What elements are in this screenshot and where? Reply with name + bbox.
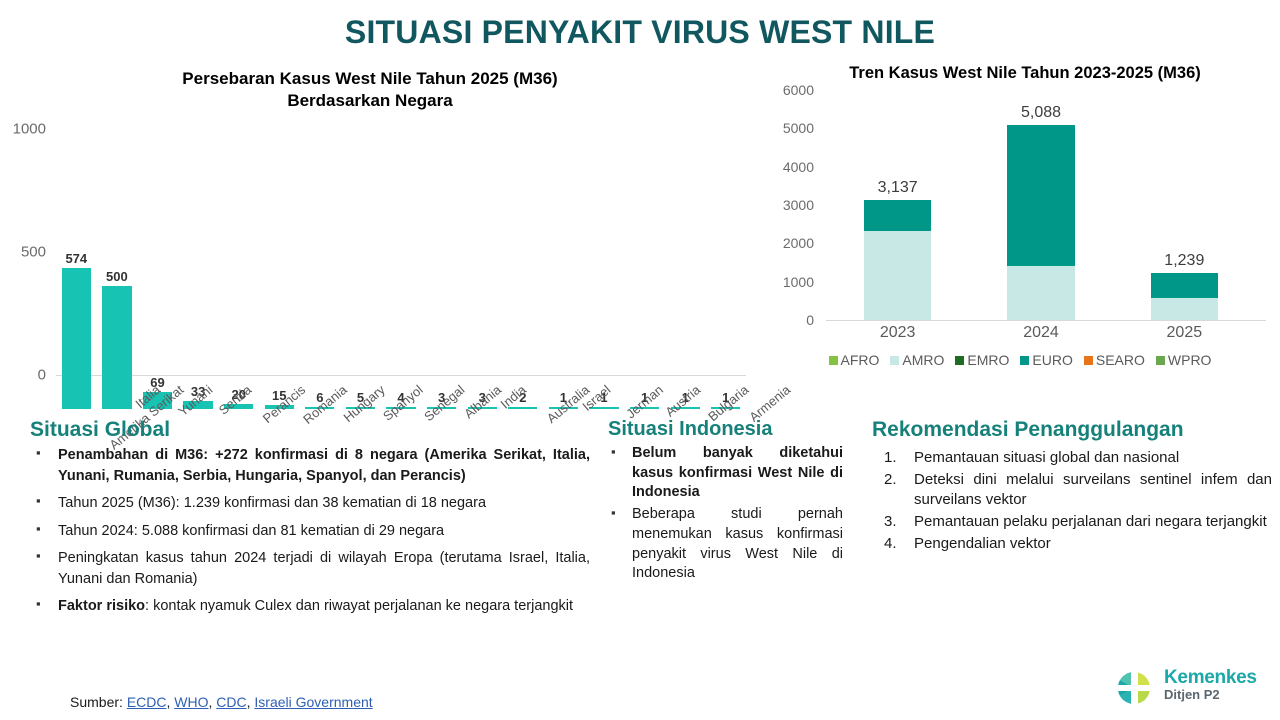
left-chart-bar-slot: 2 xyxy=(503,163,544,409)
right-chart-y-tick: 6000 xyxy=(783,82,814,98)
right-chart-y-tick: 0 xyxy=(806,312,814,328)
right-chart-total-label: 5,088 xyxy=(1021,105,1061,121)
source-links: ECDC, WHO, CDC, Israeli Government xyxy=(127,694,373,710)
right-chart-segment-amro xyxy=(1007,266,1074,320)
legend-label: AFRO xyxy=(841,352,880,368)
left-chart-bar-slot: 500 xyxy=(97,163,138,409)
left-chart-bar-slot: 15 xyxy=(259,163,300,409)
situasi-global-item: Faktor risiko: kontak nyamuk Culex dan r… xyxy=(30,596,590,617)
rekomendasi-heading: Rekomendasi Penanggulangan xyxy=(872,418,1272,442)
right-chart-y-tick: 4000 xyxy=(783,159,814,175)
right-chart-segment-euro xyxy=(864,200,931,231)
situasi-global-item: Penambahan di M36: +272 konfirmasi di 8 … xyxy=(30,445,590,486)
rekomendasi-item: Pemantauan situasi global dan nasional xyxy=(872,448,1272,469)
page-title: SITUASI PENYAKIT VIRUS WEST NILE xyxy=(0,14,1280,51)
situasi-indonesia-list: Belum banyak diketahui kasus konfirmasi … xyxy=(608,444,843,584)
situasi-indonesia-heading: Situasi Indonesia xyxy=(608,418,843,441)
right-chart-x-label: 2024 xyxy=(969,324,1112,342)
chart-tren-kasus: Tren Kasus West Nile Tahun 2023-2025 (M3… xyxy=(760,60,1280,395)
left-chart-bar-slot: 1 xyxy=(584,163,625,409)
legend-label: EURO xyxy=(1032,352,1072,368)
legend-label: WPRO xyxy=(1168,352,1212,368)
right-chart-bar-slot: 1,239 xyxy=(1113,90,1256,320)
right-chart-x-label: 2025 xyxy=(1113,324,1256,342)
left-chart-bar-slot: 1 xyxy=(706,163,747,409)
legend-label: EMRO xyxy=(967,352,1009,368)
legend-item-wpro[interactable]: WPRO xyxy=(1156,352,1212,368)
right-chart-title: Tren Kasus West Nile Tahun 2023-2025 (M3… xyxy=(770,64,1280,83)
situasi-global-item: Tahun 2024: 5.088 konfirmasi dan 81 kema… xyxy=(30,521,590,542)
bullet-lead: Faktor risiko xyxy=(58,598,145,614)
legend-label: SEARO xyxy=(1096,352,1145,368)
right-chart-axis-line xyxy=(826,320,1266,321)
left-chart-y-axis: 05001000 xyxy=(0,100,50,375)
left-chart-bar-slot: 6 xyxy=(300,163,341,409)
section-situasi-global: Situasi Global Penambahan di M36: +272 k… xyxy=(30,418,590,624)
right-chart-segment-euro xyxy=(1151,273,1218,298)
legend-item-afro[interactable]: AFRO xyxy=(829,352,880,368)
left-chart-y-tick: 0 xyxy=(38,367,46,384)
source-link-who[interactable]: WHO xyxy=(174,694,208,710)
legend-item-amro[interactable]: AMRO xyxy=(890,352,944,368)
left-chart-bar-slot: 574 xyxy=(56,163,97,409)
legend-swatch-icon xyxy=(1020,356,1029,365)
right-chart-total-label: 1,239 xyxy=(1164,253,1204,269)
right-chart-bar-slot: 3,137 xyxy=(826,90,969,320)
left-chart-x-labels: Amerika SerikatItaliaYunaniSerbiaPeranci… xyxy=(56,382,746,383)
kemenkes-pinwheel-icon xyxy=(1112,666,1158,712)
legend-swatch-icon xyxy=(1084,356,1093,365)
kemenkes-logo: Kemenkes Ditjen P2 xyxy=(1112,666,1272,714)
right-chart-stack xyxy=(1007,125,1074,320)
right-chart-y-tick: 5000 xyxy=(783,120,814,136)
right-chart-bars: 3,1375,0881,239 xyxy=(826,90,1256,320)
right-chart-total-label: 3,137 xyxy=(878,180,918,196)
left-chart-bar-slot: 20 xyxy=(218,163,259,409)
right-chart-stack xyxy=(1151,273,1218,320)
situasi-global-item: Peningkatan kasus tahun 2024 terjadi di … xyxy=(30,548,590,589)
left-chart-bar-slot: 33 xyxy=(178,163,219,409)
right-chart-x-labels: 202320242025 xyxy=(826,324,1256,342)
legend-swatch-icon xyxy=(829,356,838,365)
left-chart-bars: 5745006933201565433211111 xyxy=(56,163,746,409)
left-chart-bar-slot: 5 xyxy=(340,163,381,409)
left-chart-bar-slot: 4 xyxy=(381,163,422,409)
chart-persebaran-negara: Persebaran Kasus West Nile Tahun 2025 (M… xyxy=(0,64,760,409)
source-link-israeli-government[interactable]: Israeli Government xyxy=(254,694,372,710)
legend-item-searo[interactable]: SEARO xyxy=(1084,352,1145,368)
left-chart-bar-slot: 3 xyxy=(462,163,503,409)
legend-item-emro[interactable]: EMRO xyxy=(955,352,1009,368)
left-chart-bar-value: 574 xyxy=(65,252,87,265)
source-link-cdc[interactable]: CDC xyxy=(216,694,246,710)
right-chart-bar-slot: 5,088 xyxy=(969,90,1112,320)
source-line: Sumber: ECDC, WHO, CDC, Israeli Governme… xyxy=(70,694,373,710)
right-chart-y-tick: 1000 xyxy=(783,274,814,290)
section-situasi-indonesia: Situasi Indonesia Belum banyak diketahui… xyxy=(608,418,843,586)
right-chart-segment-amro xyxy=(864,231,931,320)
rekomendasi-item: Pemantauan pelaku perjalanan dari negara… xyxy=(872,512,1272,533)
kemenkes-brand: Kemenkes xyxy=(1164,668,1257,687)
kemenkes-logo-text: Kemenkes Ditjen P2 xyxy=(1164,668,1257,702)
legend-swatch-icon xyxy=(955,356,964,365)
section-rekomendasi: Rekomendasi Penanggulangan Pemantauan si… xyxy=(872,418,1272,555)
legend-label: AMRO xyxy=(902,352,944,368)
left-chart-y-tick: 1000 xyxy=(13,121,46,138)
situasi-global-item: Tahun 2025 (M36): 1.239 konfirmasi dan 3… xyxy=(30,493,590,514)
right-chart-y-tick: 3000 xyxy=(783,197,814,213)
situasi-global-heading: Situasi Global xyxy=(30,418,590,442)
right-chart-x-label: 2023 xyxy=(826,324,969,342)
right-chart-legend: AFROAMROEMROEUROSEAROWPRO xyxy=(760,352,1280,368)
left-chart-bar-slot: 69 xyxy=(137,163,178,409)
situasi-indonesia-item: Belum banyak diketahui kasus konfirmasi … xyxy=(608,444,843,503)
source-link-ecdc[interactable]: ECDC xyxy=(127,694,167,710)
left-chart-bar xyxy=(508,407,537,409)
rekomendasi-item: Deteksi dini melalui surveilans sentinel… xyxy=(872,470,1272,511)
left-chart-bar-slot: 1 xyxy=(624,163,665,409)
legend-swatch-icon xyxy=(1156,356,1165,365)
situasi-indonesia-item: Beberapa studi pernah menemukan kasus ko… xyxy=(608,505,843,584)
legend-swatch-icon xyxy=(890,356,899,365)
right-chart-segment-euro xyxy=(1007,125,1074,266)
left-chart-bar xyxy=(102,286,131,409)
source-label: Sumber: xyxy=(70,694,123,710)
right-chart-segment-amro xyxy=(1151,298,1218,320)
rekomendasi-item: Pengendalian vektor xyxy=(872,534,1272,555)
right-chart-y-tick: 2000 xyxy=(783,235,814,251)
left-chart-bar-slot: 1 xyxy=(665,163,706,409)
legend-item-euro[interactable]: EURO xyxy=(1020,352,1072,368)
left-chart-y-tick: 500 xyxy=(21,244,46,261)
left-chart-title-line2: Berdasarkan Negara xyxy=(90,90,650,112)
right-chart-stack xyxy=(864,200,931,320)
left-chart-title: Persebaran Kasus West Nile Tahun 2025 (M… xyxy=(90,68,650,113)
right-chart-y-axis: 0100020003000400050006000 xyxy=(760,90,818,320)
situasi-global-list: Penambahan di M36: +272 konfirmasi di 8 … xyxy=(30,445,590,617)
rekomendasi-list: Pemantauan situasi global dan nasionalDe… xyxy=(872,448,1272,554)
left-chart-bar-slot: 1 xyxy=(543,163,584,409)
left-chart-title-line1: Persebaran Kasus West Nile Tahun 2025 (M… xyxy=(90,68,650,90)
kemenkes-sub: Ditjen P2 xyxy=(1164,688,1257,702)
left-chart-bar xyxy=(62,268,91,409)
left-chart-bar-value: 500 xyxy=(106,270,128,283)
left-chart-bar-slot: 3 xyxy=(421,163,462,409)
